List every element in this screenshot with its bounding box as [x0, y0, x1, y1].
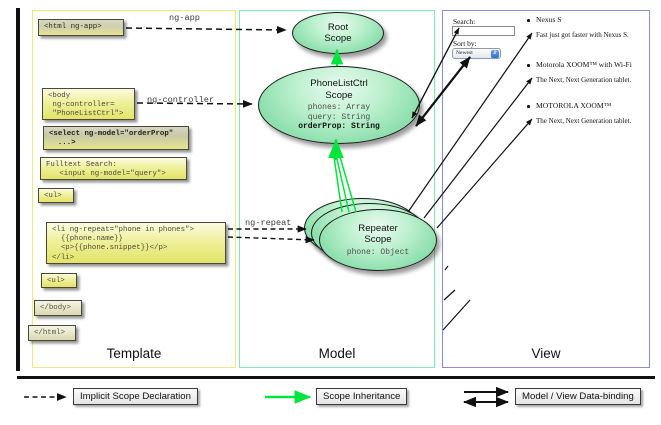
legend-label-inheritance: Scope Inheritance [316, 388, 407, 405]
list-bullet [527, 105, 530, 108]
code-box-li-repeat: <li ng-repeat="phone in phones"> {{phone… [46, 222, 226, 264]
scope-repeater-props: phone: Object [347, 248, 409, 258]
legend-divider [17, 376, 655, 379]
scope-repeater: Repeater Scope phone: Object [319, 209, 437, 271]
view-sort-label: Sort by: [453, 39, 477, 48]
code-box-body-close: </body> [34, 300, 82, 316]
scope-ctrl-prop-query: query: String [298, 113, 380, 123]
scope-repeater-prop-phone: phone: Object [347, 248, 409, 258]
sort-select[interactable]: Newest ⇵ [452, 48, 501, 59]
list-bullet [527, 64, 530, 67]
view-search-label: Search: [453, 17, 475, 26]
code-box-ul-open: <ul> [38, 188, 74, 203]
scope-ctrl-props: phones: Array query: String orderProp: S… [298, 103, 380, 132]
edge-label-ng-repeat: ng-repeat [245, 218, 291, 228]
search-input[interactable] [452, 26, 515, 36]
panel-model-label: Model [240, 346, 434, 361]
edge-label-ng-controller: ng-controller [147, 95, 214, 105]
scope-repeater-title-1: Repeater [358, 223, 397, 235]
code-box-ul-close: <ul> [41, 273, 77, 288]
code-box-html-close: </html> [28, 325, 76, 341]
phone-snippet: Fast just got faster with Nexus S. [536, 31, 629, 39]
scope-ctrl-prop-phones: phones: Array [298, 103, 380, 113]
sort-select-value: Newest [456, 50, 473, 56]
scope-ctrl-title-2: Scope [325, 90, 352, 102]
scope-ctrl-title-1: PhoneListCtrl [310, 78, 368, 90]
edge-label-ng-app: ng-app [169, 13, 200, 23]
panel-template-label: Template [33, 346, 235, 361]
list-bullet [527, 19, 530, 22]
code-box-body-open: <body ng-controller= "PhoneListCtrl"> [42, 88, 135, 120]
scope-root-title-2: Scope [324, 33, 351, 45]
left-rail [16, 8, 20, 371]
phone-snippet: The Next, Next Generation tablet. [536, 76, 631, 84]
scope-root: Root Scope [292, 12, 384, 54]
scope-ctrl-prop-orderprop: orderProp: String [298, 122, 380, 131]
legend-label-databinding: Model / View Data-binding [515, 388, 641, 405]
code-box-fulltext: Fulltext Search: <input ng-model="query"… [40, 157, 187, 180]
scope-root-title-1: Root [328, 22, 348, 34]
phone-snippet: The Next, Next Generation tablet. [536, 117, 631, 125]
code-box-select: <select ng-model="orderProp" ...> [43, 126, 189, 150]
diagram-canvas: Template Model View <html ng-app> <body … [0, 0, 661, 425]
panel-view-label: View [443, 346, 649, 361]
scope-phonelistctrl: PhoneListCtrl Scope phones: Array query:… [258, 66, 420, 144]
legend-glyph-databinding [464, 392, 508, 402]
phone-name: MOTOROLA XOOM™ [536, 101, 611, 110]
legend-label-implicit: Implicit Scope Declaration [73, 388, 198, 405]
code-box-html-open: <html ng-app> [38, 19, 124, 36]
chevron-down-icon: ⇵ [491, 50, 499, 58]
panel-model: Model [239, 10, 435, 368]
phone-name: Motorola XOOM™ with Wi-Fi [536, 60, 632, 69]
scope-repeater-title-2: Scope [364, 234, 391, 246]
phone-name: Nexus S [536, 15, 562, 24]
